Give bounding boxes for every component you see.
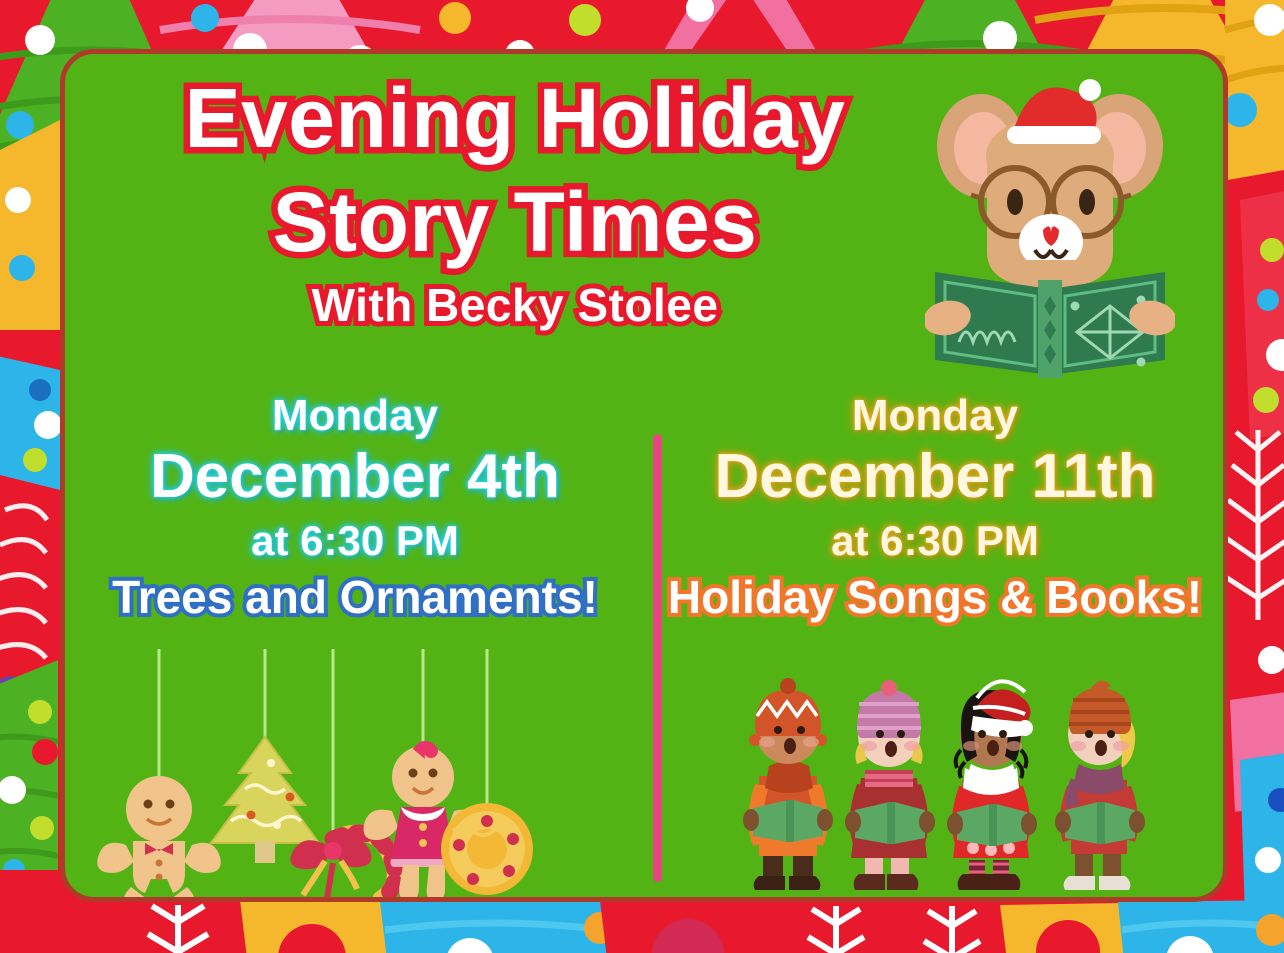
poster-title-block: Evening Holiday Story Times With Becky S… (115, 76, 915, 328)
mouse-reading-book-santa-hat-icon (925, 74, 1175, 384)
poster-title-line-2: Story Times (115, 180, 915, 264)
caroler-child-pink-striped-hat (845, 680, 935, 890)
poster-title-line-1: Evening Holiday (115, 76, 915, 160)
poster-presenter: With Becky Stolee (115, 282, 915, 328)
column-divider (653, 434, 662, 882)
session-day: Monday (85, 394, 625, 438)
caroler-child-orange-hat (1055, 680, 1145, 890)
session-topic: Trees and Ornaments! (85, 573, 625, 621)
session-time: at 6:30 PM (665, 519, 1205, 563)
hanging-ornaments-illustration (95, 649, 615, 902)
session-day: Monday (665, 394, 1205, 438)
session-date: December 4th (85, 444, 625, 509)
session-december-11: Monday December 11th at 6:30 PM Holiday … (665, 394, 1205, 621)
candy-cane-with-bow-ornament (291, 833, 396, 899)
holiday-story-time-poster: Evening Holiday Story Times With Becky S… (0, 0, 1284, 953)
poster-green-panel: Evening Holiday Story Times With Becky S… (60, 49, 1228, 902)
caroler-child-santa-hat (947, 681, 1037, 890)
session-date: December 11th (665, 444, 1205, 509)
session-december-4: Monday December 4th at 6:30 PM Trees and… (85, 394, 625, 621)
caroling-children-illustration (725, 654, 1195, 902)
session-topic: Holiday Songs & Books! (665, 573, 1205, 621)
session-time: at 6:30 PM (85, 519, 625, 563)
gingerbread-man-ornament (97, 776, 220, 902)
wreath-cookie-ornament (441, 803, 533, 895)
caroler-child-red-knit-hat (743, 678, 833, 890)
